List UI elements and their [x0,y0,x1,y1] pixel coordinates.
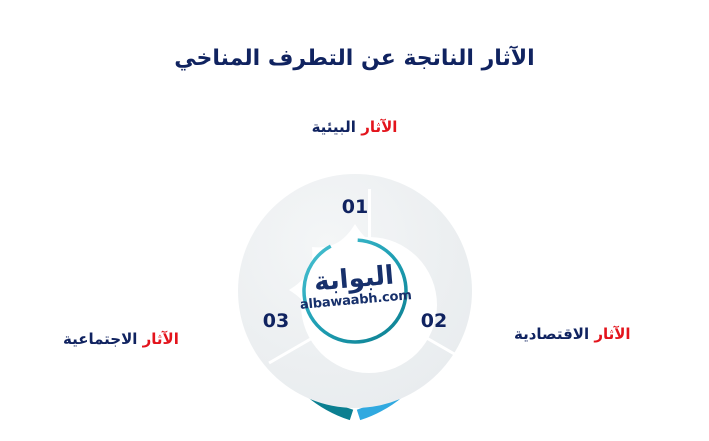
category-label-environmental: الآثار البيئية [0,117,709,137]
label-prefix-economic: الآثار [594,325,630,343]
label-prefix-environmental: الآثار [361,118,397,136]
step-number-03: 03 [256,312,296,331]
donut-infographic: البوابة albawaabh.com 01 02 03 [224,160,486,422]
label-suffix-economic: الاقتصادية [514,325,589,343]
step-number-02: 02 [414,312,454,331]
category-label-social: الآثار الاجتماعية [63,329,179,349]
label-suffix-social: الاجتماعية [63,330,137,348]
center-logo: البوابة albawaabh.com [281,217,428,364]
label-suffix-environmental: البيئية [312,118,356,136]
label-prefix-social: الآثار [143,330,179,348]
category-label-economic: الآثار الاقتصادية [514,324,631,344]
step-number-01: 01 [335,198,375,217]
page-title: الآثار الناتجة عن التطرف المناخي [0,44,709,74]
